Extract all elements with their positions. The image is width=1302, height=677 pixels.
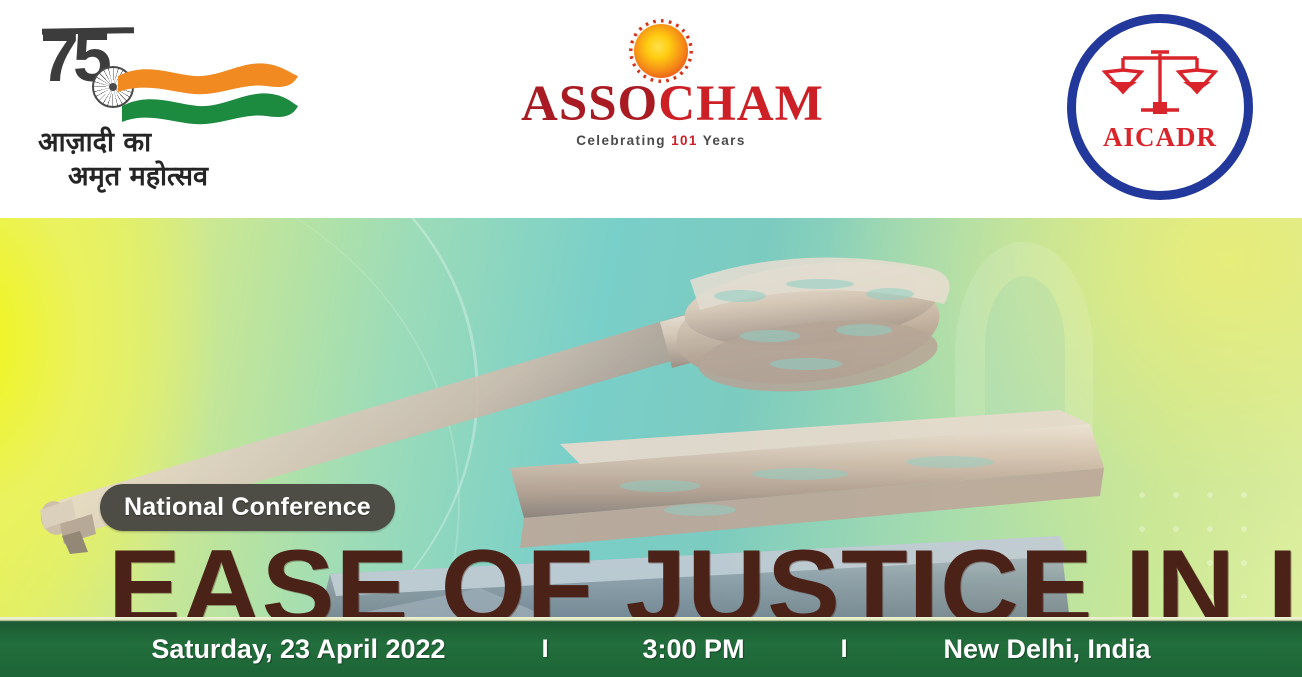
separator-1: I — [542, 635, 549, 664]
seal-graphics: ASSOCHAM INTERNATIONAL COUNCIL OF ALTERN… — [1067, 14, 1253, 200]
azadi-ka-amrit-mahotsav-logo: 75 आज़ादी का अमृत महोत्सव — [30, 18, 300, 198]
assocham-wordmark-part2: CHAM — [658, 76, 823, 132]
sun-burst-icon — [634, 24, 688, 78]
svg-text:RESOLUTION ✦: RESOLUTION ✦ — [1120, 153, 1201, 175]
assocham-tagline: Celebrating 101 Years — [521, 133, 801, 148]
event-time: 3:00 PM — [643, 634, 745, 665]
azadi-line-2: अमृत महोत्सव — [68, 156, 208, 193]
numeral-overbar — [42, 27, 134, 35]
national-conference-badge: National Conference — [100, 484, 395, 531]
separator-2: I — [841, 635, 848, 664]
tagline-after: Years — [698, 133, 746, 148]
page-title: EASE OF JUSTICE IN INDIA — [108, 534, 1271, 622]
azadi-line-1: आज़ादी का — [38, 122, 151, 159]
conference-banner: 75 आज़ादी का अमृत महोत्सव ASSOCHAM Celeb… — [0, 0, 1302, 677]
event-date: Saturday, 23 April 2022 — [151, 634, 445, 665]
tagline-years-count: 101 — [671, 133, 698, 148]
hero-banner: National Conference EASE OF JUSTICE IN I… — [0, 218, 1302, 622]
logo-header-strip: 75 आज़ादी का अमृत महोत्सव ASSOCHAM Celeb… — [0, 0, 1302, 218]
event-location: New Delhi, India — [944, 634, 1151, 665]
assocham-logo: ASSOCHAM Celebrating 101 Years — [521, 24, 801, 154]
aicadr-logo: ASSOCHAM INTERNATIONAL COUNCIL OF ALTERN… — [1067, 14, 1253, 200]
assocham-wordmark-part1: ASSO — [521, 76, 658, 132]
svg-text:ASSOCHAM INTERNATIONAL COUNCIL: ASSOCHAM INTERNATIONAL COUNCIL OF ALTERN… — [1067, 14, 1239, 109]
aicadr-acronym: AICADR — [1067, 122, 1253, 153]
badge-label: National Conference — [124, 493, 371, 522]
sun-disc — [634, 24, 688, 78]
tricolor-flag-icon — [116, 54, 300, 132]
assocham-wordmark: ASSOCHAM — [521, 80, 801, 128]
tagline-before: Celebrating — [576, 133, 671, 148]
event-details-bar: Saturday, 23 April 2022 I 3:00 PM I New … — [0, 622, 1302, 677]
